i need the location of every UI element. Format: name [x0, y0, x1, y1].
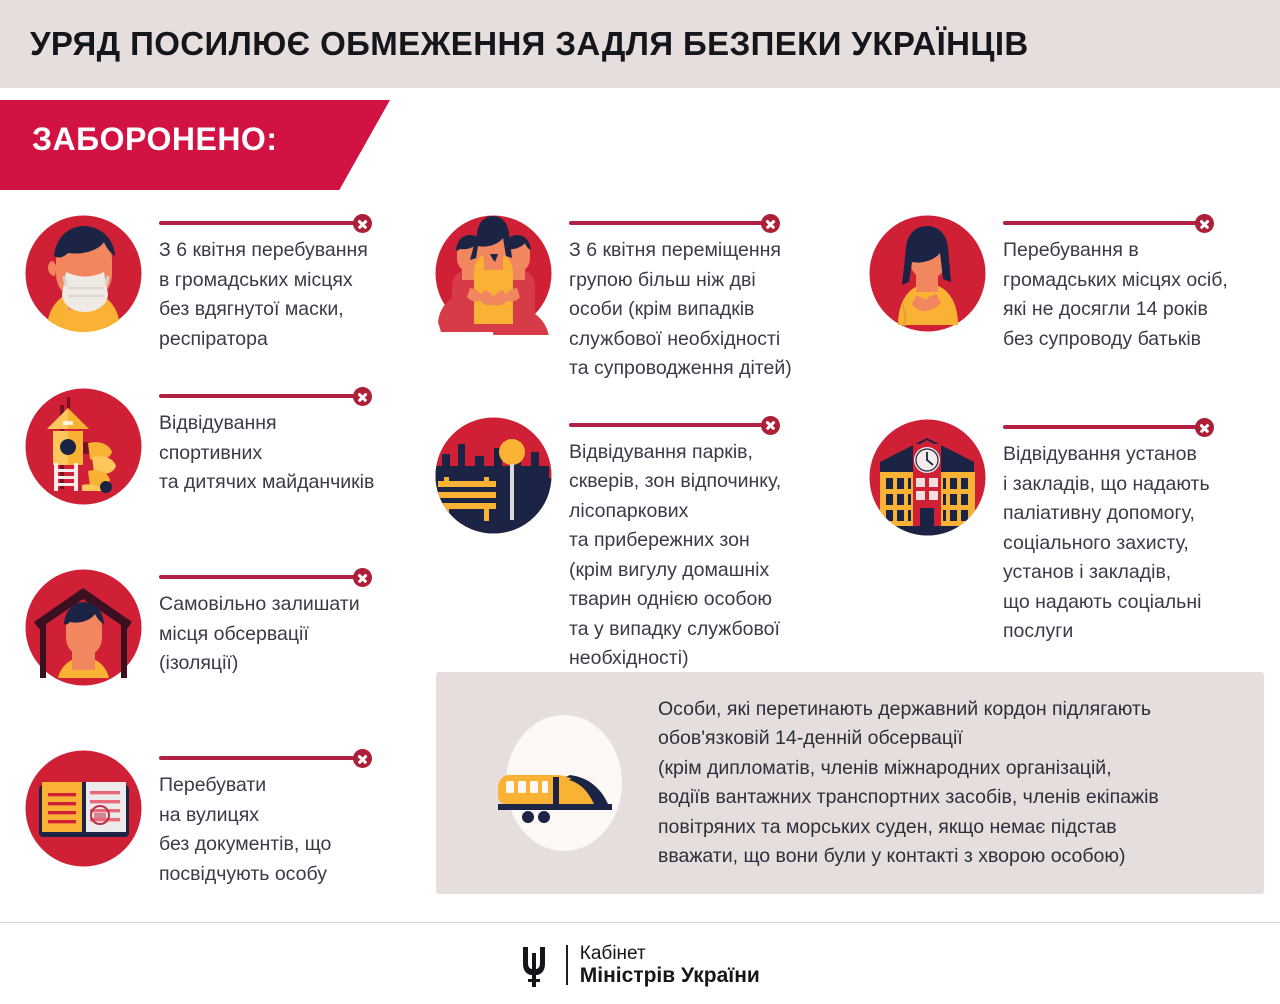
rule-line — [1003, 425, 1204, 429]
list-item-text: Відвідування установ і закладів, що нада… — [1003, 440, 1266, 647]
column-2: З 6 квітня переміщення групою більш ніж … — [432, 212, 842, 674]
list-item-body: З 6 квітня перебування в громадських міс… — [159, 212, 422, 354]
list-item-text: Перебувати на вулицях без документів, що… — [159, 771, 422, 889]
footer-line-1: Кабінет — [580, 943, 760, 964]
column-1: З 6 квітня перебування в громадських міс… — [22, 212, 422, 889]
ukraine-trident-icon — [520, 943, 554, 987]
train-icon — [474, 693, 654, 873]
footer-wordmark: Кабінет Міністрів України — [580, 943, 760, 988]
list-item-text: Перебування в громадських місцях осіб, я… — [1003, 236, 1266, 354]
close-x-icon — [353, 749, 372, 768]
close-x-icon — [761, 214, 780, 233]
rule-line — [159, 221, 362, 225]
list-item-text: Відвідування парків, скверів, зон відпоч… — [569, 438, 842, 674]
rule-line — [1003, 221, 1204, 225]
list-item-text: Відвідування спортивних та дитячих майда… — [159, 409, 422, 498]
item-rule — [159, 568, 422, 586]
item-rule — [569, 214, 842, 232]
park-bench-icon — [432, 414, 555, 537]
item-rule — [1003, 214, 1266, 232]
rule-line — [159, 575, 362, 579]
rule-line — [569, 221, 770, 225]
rule-line — [159, 756, 362, 760]
footer-line-2: Міністрів України — [580, 964, 760, 988]
list-item: Відвідування спортивних та дитячих майда… — [22, 385, 422, 508]
list-item-text: Самовільно залишати місця обсервації (із… — [159, 590, 422, 679]
close-x-icon — [761, 416, 780, 435]
list-item-body: Відвідування установ і закладів, що нада… — [1003, 416, 1266, 647]
list-item: Самовільно залишати місця обсервації (із… — [22, 566, 422, 689]
footer-separator — [566, 945, 568, 985]
list-item-body: Відвідування спортивних та дитячих майда… — [159, 385, 422, 498]
list-item-text: З 6 квітня переміщення групою більш ніж … — [569, 236, 842, 384]
list-item: Перебувати на вулицях без документів, що… — [22, 747, 422, 889]
column-3: Перебування в громадських місцях осіб, я… — [866, 212, 1266, 647]
item-rule — [569, 416, 842, 434]
list-item-body: З 6 квітня переміщення групою більш ніж … — [569, 212, 842, 384]
passport-document-icon — [22, 747, 145, 870]
person-in-mask-icon — [22, 212, 145, 335]
list-item-text: З 6 квітня перебування в громадських міс… — [159, 236, 422, 354]
list-item: З 6 квітня перебування в громадських міс… — [22, 212, 422, 354]
rule-line — [569, 423, 770, 427]
item-rule — [159, 749, 422, 767]
institution-building-icon — [866, 416, 989, 539]
footer: Кабінет Міністрів України — [0, 935, 1280, 995]
footer-divider — [0, 922, 1280, 923]
item-rule — [159, 387, 422, 405]
person-at-home-icon — [22, 566, 145, 689]
callout-text: Особи, які перетинають державний кордон … — [658, 695, 1264, 872]
list-item-body: Перебувати на вулицях без документів, що… — [159, 747, 422, 889]
playground-icon — [22, 385, 145, 508]
rule-line — [159, 394, 362, 398]
list-item: З 6 квітня переміщення групою більш ніж … — [432, 212, 842, 384]
forbidden-label: ЗАБОРОНЕНО: — [32, 121, 277, 158]
group-of-people-icon — [432, 212, 555, 335]
woman-standing-icon — [866, 212, 989, 335]
list-item: Відвідування установ і закладів, що нада… — [866, 416, 1266, 647]
item-rule — [159, 214, 422, 232]
list-item: Перебування в громадських місцях осіб, я… — [866, 212, 1266, 354]
list-item-body: Перебування в громадських місцях осіб, я… — [1003, 212, 1266, 354]
close-x-icon — [353, 568, 372, 587]
page-title: УРЯД ПОСИЛЮЄ ОБМЕЖЕННЯ ЗАДЛЯ БЕЗПЕКИ УКР… — [30, 22, 1250, 66]
list-item-body: Відвідування парків, скверів, зон відпоч… — [569, 414, 842, 674]
close-x-icon — [1195, 418, 1214, 437]
list-item-body: Самовільно залишати місця обсервації (із… — [159, 566, 422, 679]
close-x-icon — [353, 214, 372, 233]
list-item: Відвідування парків, скверів, зон відпоч… — [432, 414, 842, 674]
border-crossing-callout: Особи, які перетинають державний кордон … — [436, 672, 1264, 894]
item-rule — [1003, 418, 1266, 436]
close-x-icon — [353, 387, 372, 406]
close-x-icon — [1195, 214, 1214, 233]
